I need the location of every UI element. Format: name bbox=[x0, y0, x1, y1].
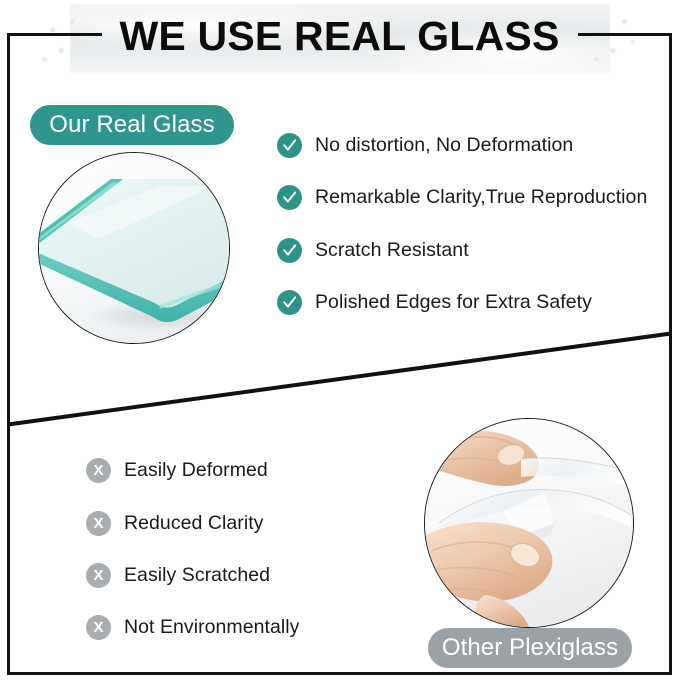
x-circle-icon: X bbox=[86, 458, 111, 483]
check-glyph bbox=[281, 137, 298, 154]
check-circle-icon bbox=[277, 238, 302, 263]
pro-item-2-label: Remarkable Clarity,True Reproduction bbox=[315, 186, 647, 209]
con-item-4-label: Not Environmentally bbox=[124, 616, 299, 639]
badge-other-plexiglass: Other Plexiglass bbox=[428, 628, 632, 668]
x-circle-icon: X bbox=[86, 511, 111, 536]
check-circle-icon bbox=[277, 133, 302, 158]
con-item-2-label: Reduced Clarity bbox=[124, 512, 263, 535]
x-glyph: X bbox=[93, 568, 103, 583]
pro-item-2: Remarkable Clarity,True Reproduction bbox=[277, 185, 647, 210]
check-glyph bbox=[281, 294, 298, 311]
frame-border-left-lower bbox=[7, 424, 10, 675]
frame-border-top-left bbox=[7, 33, 102, 36]
pro-item-1: No distortion, No Deformation bbox=[277, 133, 573, 158]
x-glyph: X bbox=[93, 620, 103, 635]
pro-item-3: Scratch Resistant bbox=[277, 238, 469, 263]
x-glyph: X bbox=[93, 463, 103, 478]
x-circle-icon: X bbox=[86, 615, 111, 640]
con-item-4: X Not Environmentally bbox=[86, 615, 299, 640]
badge-our-real-glass-label: Our Real Glass bbox=[49, 111, 214, 139]
pro-item-4: Polished Edges for Extra Safety bbox=[277, 290, 592, 315]
check-glyph bbox=[281, 242, 298, 259]
x-glyph: X bbox=[93, 516, 103, 531]
pro-item-3-label: Scratch Resistant bbox=[315, 239, 469, 262]
con-item-2: X Reduced Clarity bbox=[86, 511, 263, 536]
hand-bending-plexiglass-illustration bbox=[425, 419, 633, 627]
con-item-3: X Easily Scratched bbox=[86, 563, 270, 588]
con-item-1: X Easily Deformed bbox=[86, 458, 268, 483]
frame-border-top-right bbox=[578, 33, 672, 36]
photo-other-plexiglass bbox=[424, 418, 634, 628]
badge-our-real-glass: Our Real Glass bbox=[30, 105, 234, 145]
check-glyph bbox=[281, 189, 298, 206]
check-circle-icon bbox=[277, 290, 302, 315]
page-title: WE USE REAL GLASS bbox=[0, 8, 679, 64]
frame-border-bottom bbox=[7, 672, 672, 675]
infographic-root: WE USE REAL GLASS Our Real Glass bbox=[0, 0, 679, 691]
glass-panel-illustration bbox=[39, 153, 229, 343]
pro-item-1-label: No distortion, No Deformation bbox=[315, 134, 573, 157]
check-circle-icon bbox=[277, 185, 302, 210]
con-item-3-label: Easily Scratched bbox=[124, 564, 270, 587]
diagonal-divider bbox=[8, 332, 671, 426]
photo-real-glass bbox=[38, 152, 230, 344]
x-circle-icon: X bbox=[86, 563, 111, 588]
badge-other-plexiglass-label: Other Plexiglass bbox=[442, 634, 618, 662]
con-item-1-label: Easily Deformed bbox=[124, 459, 268, 482]
pro-item-4-label: Polished Edges for Extra Safety bbox=[315, 291, 592, 314]
